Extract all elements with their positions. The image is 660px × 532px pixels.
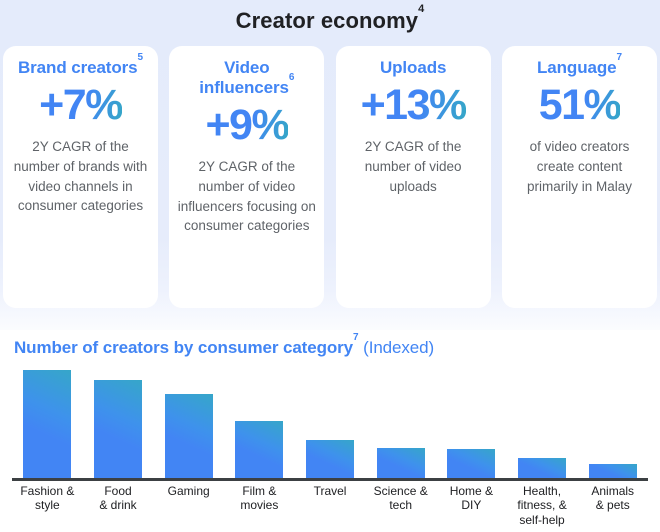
x-tick-label-line: self-help [508,513,577,527]
x-tick-label: Fashion &style [12,484,83,527]
stat-card-value: +13% [361,84,466,128]
x-tick-label-line: & drink [84,498,153,512]
bar-1 [23,370,71,480]
x-tick-label-line: Travel [296,484,365,498]
x-tick-label-line: Health, [508,484,577,498]
bar-slot [577,370,648,480]
chart-title-light: (Indexed) [359,338,435,357]
x-tick-label-line: fitness, & [508,498,577,512]
bar-8 [518,458,566,480]
x-tick-label: Health,fitness, &self-help [507,484,578,527]
x-tick-label-line: Film & [225,484,294,498]
x-tick-label-line: style [13,498,82,512]
x-tick-label-line: Home & [437,484,506,498]
page-title: Creator economy4 [0,8,660,34]
x-tick-label: Science &tech [365,484,436,527]
bar-slot [295,370,366,480]
creator-economy-infographic: Creator economy4 Brand creators5 +7% 2Y … [0,0,660,532]
bar-slot [224,370,295,480]
stat-card-description: of video creators create content primari… [510,137,649,197]
creators-by-category-chart: Number of creators by consumer category7… [0,330,660,532]
stat-card-title: Video influencers6 [177,58,316,98]
bar-slot [365,370,436,480]
stat-card-value: +7% [39,84,122,128]
bar-7 [447,449,495,480]
bar-series [12,370,648,480]
stat-card-language: Language7 51% of video creators create c… [502,46,657,308]
chart-title-bold: Number of creators by consumer category [14,338,353,357]
page-title-footnote: 4 [418,3,424,15]
stat-card-title-text: Uploads [380,58,446,77]
x-tick-label: Animals& pets [577,484,648,527]
x-tick-label: Home &DIY [436,484,507,527]
chart-x-axis [12,478,648,481]
bar-slot [83,370,154,480]
stat-card-uploads: Uploads +13% 2Y CAGR of the number of vi… [336,46,491,308]
stat-card-value: +9% [205,104,288,148]
stat-card-value: 51% [539,84,621,128]
x-tick-label-line: Food [84,484,153,498]
x-tick-label-line: Gaming [154,484,223,498]
stat-card-title: Uploads [380,58,446,78]
x-tick-label: Travel [295,484,366,527]
x-tick-label: Gaming [153,484,224,527]
stat-card-title-text: Brand creators [18,58,138,77]
stat-card-title-footnote: 6 [289,72,294,83]
bar-3 [165,394,213,480]
bar-2 [94,380,142,480]
bar-slot [436,370,507,480]
bar-4 [235,421,283,480]
x-tick-label-line: Fashion & [13,484,82,498]
bar-slot [12,370,83,480]
chart-title: Number of creators by consumer category7… [14,338,434,358]
bar-slot [153,370,224,480]
x-tick-label: Film &movies [224,484,295,527]
stat-card-title: Brand creators5 [18,58,143,78]
bar-6 [377,448,425,480]
stat-card-description: 2Y CAGR of the number of brands with vid… [11,137,150,216]
x-tick-label-line: Animals [578,484,647,498]
stat-card-description: 2Y CAGR of the number of video uploads [344,137,483,197]
x-tick-label-line: & pets [578,498,647,512]
x-tick-label-line: movies [225,498,294,512]
bar-slot [507,370,578,480]
x-tick-label-line: DIY [437,498,506,512]
stat-card-title-footnote: 7 [617,52,622,63]
stat-card-video-influencers: Video influencers6 +9% 2Y CAGR of the nu… [169,46,324,308]
x-tick-label-line: Science & [366,484,435,498]
stat-card-description: 2Y CAGR of the number of video influence… [177,157,316,236]
stat-card-title: Language7 [537,58,622,78]
chart-x-tick-labels: Fashion &styleFood& drinkGamingFilm &mov… [12,484,648,527]
chart-plot-area [12,368,648,480]
page-title-text: Creator economy [236,8,418,33]
x-tick-label-line: tech [366,498,435,512]
bar-5 [306,440,354,480]
creator-economy-panel: Creator economy4 Brand creators5 +7% 2Y … [0,0,660,330]
stat-card-list: Brand creators5 +7% 2Y CAGR of the numbe… [0,46,660,308]
x-tick-label: Food& drink [83,484,154,527]
stat-card-title-text: Video influencers [199,58,289,97]
stat-card-brand-creators: Brand creators5 +7% 2Y CAGR of the numbe… [3,46,158,308]
stat-card-title-footnote: 5 [138,52,143,63]
chart-title-footnote: 7 [353,332,358,343]
stat-card-title-text: Language [537,58,617,77]
